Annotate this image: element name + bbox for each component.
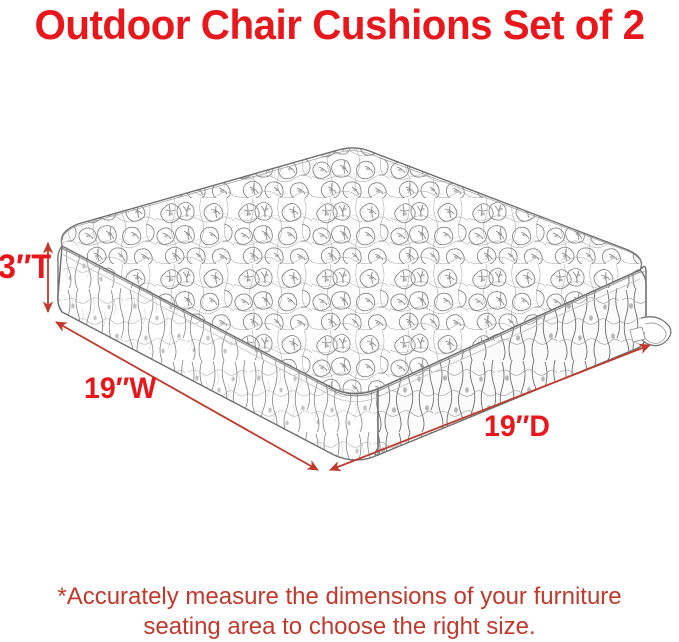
thickness-dimension-label: 3″T [0,248,51,286]
width-dimension-label: 19″W [84,372,156,406]
cushion-illustration [0,0,679,642]
cushion-svg [0,0,679,642]
measurement-footnote: *Accurately measure the dimensions of yo… [0,582,679,642]
product-dimension-graphic: Outdoor Chair Cushions Set of 2 [0,0,679,642]
footnote-line-1: *Accurately measure the dimensions of yo… [0,582,679,612]
footnote-line-2: seating area to choose the right size. [0,612,679,642]
depth-dimension-label: 19″D [484,410,550,444]
